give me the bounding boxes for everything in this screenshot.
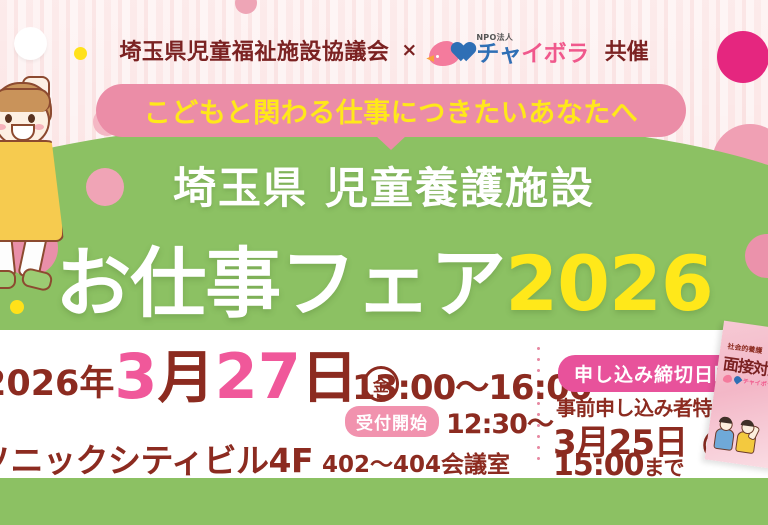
child-bangs <box>0 88 51 112</box>
child-cheek <box>34 124 44 130</box>
child-shoe <box>0 270 16 289</box>
figure-blue <box>712 417 734 449</box>
logo-text: NPO法人 チャイボラ <box>476 34 588 66</box>
tagline-banner: こどもと関わる仕事につきたいあなたへ <box>96 84 686 137</box>
eye-icon <box>436 55 439 58</box>
header-bar: 埼玉県児童福祉施設協議会 × NPO法人 チャイボラ 共催 <box>0 28 768 72</box>
heart-icon <box>446 34 470 55</box>
booklet-brand: チャイボラ <box>742 376 768 389</box>
chaibora-logo: NPO法人 チャイボラ <box>429 33 588 67</box>
child-eye <box>28 114 35 123</box>
date-month-unit: 月 <box>158 350 215 407</box>
venue-name: ソニックシティビル4F <box>0 434 313 482</box>
child-shoe <box>20 267 54 293</box>
green-footer-band <box>0 478 768 511</box>
deadline-time-suffix: まで <box>644 456 684 480</box>
bird-icon <box>723 374 733 383</box>
organizer-name: 埼玉県児童福祉施設協議会 <box>119 34 389 66</box>
tagline-text: こどもと関わる仕事につきたいあなたへ <box>144 91 638 130</box>
main-title-text: お仕事フェア <box>55 239 505 328</box>
child-illustration <box>0 78 100 318</box>
venue-room: 402〜404会議室 <box>322 445 510 479</box>
date-day-unit: 日 <box>301 350 358 407</box>
date-year: 2026年 <box>0 367 114 407</box>
figure-body <box>713 428 735 451</box>
main-title: お仕事フェア2026 <box>0 222 768 332</box>
heart-icon <box>733 375 743 385</box>
child-dress <box>0 140 64 242</box>
cohost-label: 共催 <box>605 34 649 66</box>
event-date: 2026年 3 月 27 日 金 <box>0 348 399 407</box>
logo-name-blue: チャ <box>476 41 521 67</box>
venue-row: ソニックシティビル4F 402〜404会議室 <box>0 434 510 482</box>
figure-yellow <box>734 420 756 452</box>
booklet-figures <box>712 417 756 452</box>
child-eye <box>5 114 12 123</box>
date-month-number: 3 <box>114 348 157 407</box>
event-poster: 埼玉県児童福祉施設協議会 × NPO法人 チャイボラ 共催 こどもと関わる仕事に… <box>0 0 768 525</box>
logo-name: チャイボラ <box>476 43 588 66</box>
subtitle: 埼玉県 児童養護施設 <box>0 154 768 216</box>
logo-mark <box>429 33 471 67</box>
date-day-number: 27 <box>215 348 301 407</box>
main-title-year: 2026 <box>505 239 713 328</box>
beak-icon <box>426 55 434 62</box>
logo-name-pink: イボラ <box>521 41 589 67</box>
cross-symbol: × <box>399 39 419 61</box>
reception-badge: 受付開始 <box>345 406 439 437</box>
